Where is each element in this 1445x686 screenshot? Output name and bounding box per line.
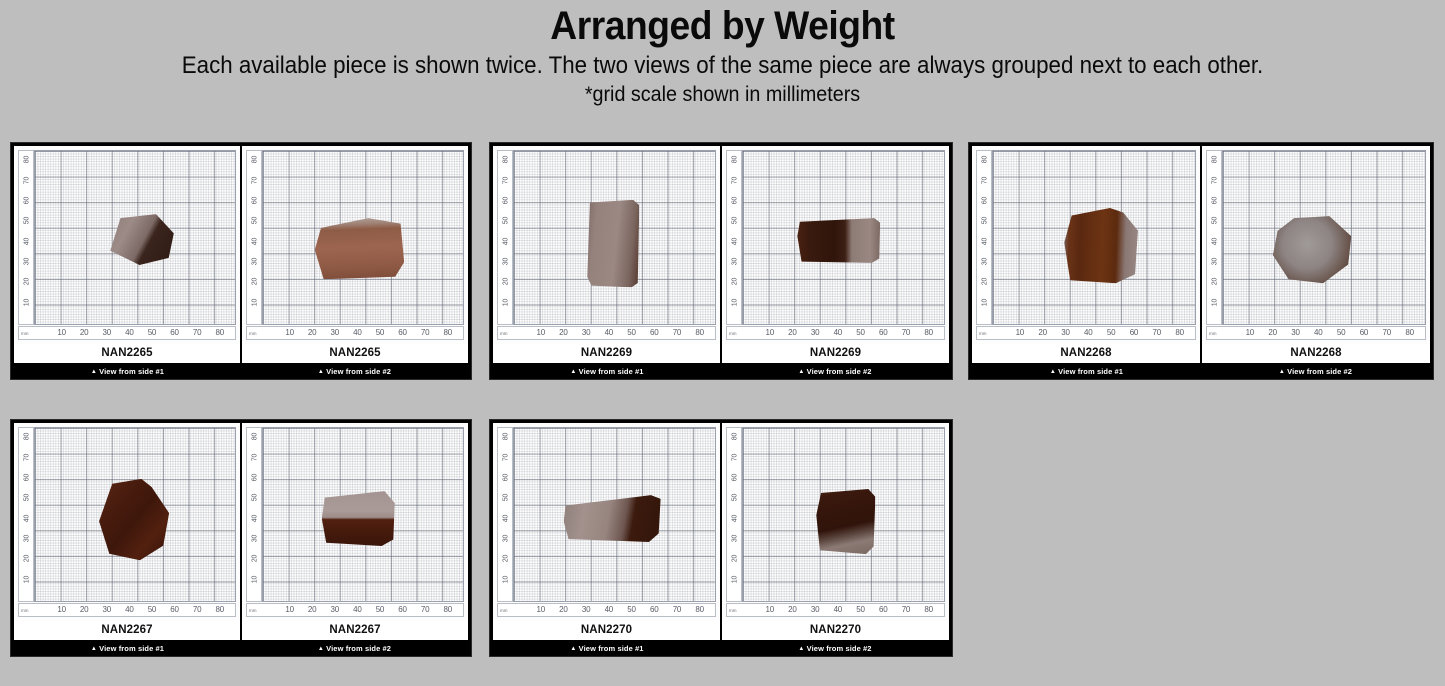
x-axis-tick-label: 30 bbox=[99, 328, 115, 337]
caption-bar: ▲ View from side #1▲ View from side #2 bbox=[493, 640, 949, 656]
specimen-id-label: NAN2269 bbox=[493, 344, 720, 363]
x-axis-tick-label: 70 bbox=[417, 605, 433, 614]
x-axis-tick-label: 60 bbox=[646, 328, 662, 337]
specimen-view-panel[interactable]: 8070605040302010mm1020304050607080NAN226… bbox=[493, 146, 720, 363]
millimeter-grid bbox=[742, 427, 945, 602]
x-axis-tick-label: 80 bbox=[921, 328, 937, 337]
y-axis-tick-label: 60 bbox=[732, 192, 739, 208]
x-axis-ruler: mm1020304050607080 bbox=[246, 603, 464, 617]
graph-paper-plot: 8070605040302010mm1020304050607080 bbox=[1202, 146, 1430, 344]
graph-paper-plot: 8070605040302010mm1020304050607080 bbox=[493, 423, 720, 621]
x-axis-tick-label: 80 bbox=[1172, 328, 1188, 337]
x-axis-tick-label: 30 bbox=[99, 605, 115, 614]
y-axis-tick-label: 50 bbox=[982, 213, 989, 229]
y-axis-tick-label: 40 bbox=[982, 233, 989, 249]
triangle-up-icon: ▲ bbox=[1050, 369, 1056, 375]
y-axis-tick-label: 40 bbox=[252, 510, 259, 526]
millimeter-grid bbox=[513, 150, 716, 325]
y-axis-ruler: 8070605040302010 bbox=[246, 427, 262, 602]
x-axis-tick-label: 30 bbox=[327, 328, 343, 337]
caption-bar: ▲ View from side #1▲ View from side #2 bbox=[972, 363, 1430, 379]
y-axis-tick-label: 70 bbox=[503, 449, 510, 465]
triangle-up-icon: ▲ bbox=[91, 369, 97, 375]
x-axis-tick-label: 10 bbox=[533, 328, 549, 337]
specimen-view-panel[interactable]: 8070605040302010mm1020304050607080NAN226… bbox=[14, 423, 240, 640]
specimen-view-panel[interactable]: 8070605040302010mm1020304050607080NAN226… bbox=[14, 146, 240, 363]
specimen-view-panel[interactable]: 8070605040302010mm1020304050607080NAN227… bbox=[722, 423, 949, 640]
x-axis-tick-label: 80 bbox=[212, 328, 228, 337]
specimen-image bbox=[797, 218, 880, 263]
x-axis-tick-label: 50 bbox=[144, 328, 160, 337]
x-axis-tick-label: 30 bbox=[578, 605, 594, 614]
view-caption: ▲ View from side #1 bbox=[493, 644, 721, 653]
x-axis-tick-label: 10 bbox=[282, 605, 298, 614]
y-axis-tick-label: 70 bbox=[982, 172, 989, 188]
x-axis-tick-label: 50 bbox=[372, 328, 388, 337]
millimeter-grid bbox=[34, 427, 236, 602]
x-axis-tick-label: 70 bbox=[898, 605, 914, 614]
view-caption: ▲ View from side #2 bbox=[1201, 367, 1430, 376]
specimen-image bbox=[322, 491, 395, 546]
millimeter-grid bbox=[262, 427, 464, 602]
x-axis-tick-label: 60 bbox=[1356, 328, 1372, 337]
millimeter-grid bbox=[1222, 150, 1426, 325]
x-axis-tick-label: 20 bbox=[1265, 328, 1281, 337]
y-axis-tick-label: 20 bbox=[1212, 274, 1219, 290]
y-axis-tick-label: 10 bbox=[24, 294, 31, 310]
x-axis-tick-label: 20 bbox=[76, 605, 92, 614]
y-axis-tick-label: 60 bbox=[1212, 192, 1219, 208]
x-axis-tick-label: 30 bbox=[578, 328, 594, 337]
specimen-id-label: NAN2267 bbox=[242, 621, 468, 640]
y-axis-tick-label: 80 bbox=[732, 152, 739, 168]
specimen-id-label: NAN2270 bbox=[493, 621, 720, 640]
y-axis-ruler: 8070605040302010 bbox=[976, 150, 992, 325]
x-axis-tick-label: 60 bbox=[646, 605, 662, 614]
y-axis-tick-label: 50 bbox=[503, 490, 510, 506]
specimen-image bbox=[816, 489, 875, 554]
x-axis-tick-label: 20 bbox=[555, 328, 571, 337]
specimen-view-panel[interactable]: 8070605040302010mm1020304050607080NAN226… bbox=[242, 146, 468, 363]
specimen-id-label: NAN2270 bbox=[722, 621, 949, 640]
specimen-view-pair: 8070605040302010mm1020304050607080NAN226… bbox=[972, 146, 1430, 363]
specimen-card[interactable]: 8070605040302010mm1020304050607080NAN226… bbox=[10, 419, 472, 657]
specimen-view-pair: 8070605040302010mm1020304050607080NAN227… bbox=[493, 423, 949, 640]
specimen-id-label: NAN2269 bbox=[722, 344, 949, 363]
x-axis-tick-label: 60 bbox=[875, 605, 891, 614]
y-axis-tick-label: 70 bbox=[24, 172, 31, 188]
specimen-view-pair: 8070605040302010mm1020304050607080NAN226… bbox=[14, 146, 468, 363]
x-axis-ruler: mm1020304050607080 bbox=[1206, 326, 1426, 340]
specimen-id-label: NAN2268 bbox=[972, 344, 1200, 363]
x-axis-ruler: mm1020304050607080 bbox=[497, 603, 716, 617]
page-title: Arranged by Weight bbox=[51, 4, 1395, 49]
axis-unit-label: mm bbox=[21, 608, 29, 613]
y-axis-ruler: 8070605040302010 bbox=[726, 427, 742, 602]
y-axis-tick-label: 40 bbox=[1212, 233, 1219, 249]
specimen-view-pair: 8070605040302010mm1020304050607080NAN226… bbox=[493, 146, 949, 363]
x-axis-tick-label: 50 bbox=[144, 605, 160, 614]
y-axis-tick-label: 50 bbox=[24, 213, 31, 229]
y-axis-tick-label: 80 bbox=[1212, 152, 1219, 168]
view-caption: ▲ View from side #2 bbox=[241, 644, 468, 653]
axis-unit-label: mm bbox=[729, 608, 737, 613]
x-axis-tick-label: 40 bbox=[830, 328, 846, 337]
y-axis-ruler: 8070605040302010 bbox=[497, 150, 513, 325]
x-axis-tick-label: 40 bbox=[601, 605, 617, 614]
specimen-view-pair: 8070605040302010mm1020304050607080NAN226… bbox=[14, 423, 468, 640]
x-axis-tick-label: 50 bbox=[624, 328, 640, 337]
axis-unit-label: mm bbox=[249, 608, 257, 613]
specimen-image bbox=[96, 479, 169, 560]
x-axis-tick-label: 10 bbox=[54, 328, 70, 337]
millimeter-grid bbox=[34, 150, 236, 325]
view-caption: ▲ View from side #1 bbox=[972, 367, 1201, 376]
x-axis-tick-label: 10 bbox=[1242, 328, 1258, 337]
y-axis-tick-label: 70 bbox=[252, 172, 259, 188]
triangle-up-icon: ▲ bbox=[570, 369, 576, 375]
x-axis-tick-label: 30 bbox=[1057, 328, 1073, 337]
x-axis-tick-label: 80 bbox=[1402, 328, 1418, 337]
x-axis-tick-label: 40 bbox=[1310, 328, 1326, 337]
specimen-view-panel[interactable]: 8070605040302010mm1020304050607080NAN226… bbox=[1202, 146, 1430, 363]
x-axis-tick-label: 20 bbox=[1035, 328, 1051, 337]
x-axis-tick-label: 40 bbox=[349, 605, 365, 614]
x-axis-tick-label: 60 bbox=[167, 605, 183, 614]
specimen-card[interactable]: 8070605040302010mm1020304050607080NAN226… bbox=[489, 142, 953, 380]
specimen-view-panel[interactable]: 8070605040302010mm1020304050607080NAN226… bbox=[972, 146, 1200, 363]
x-axis-tick-label: 70 bbox=[669, 328, 685, 337]
triangle-up-icon: ▲ bbox=[798, 646, 804, 652]
triangle-up-icon: ▲ bbox=[570, 646, 576, 652]
millimeter-grid bbox=[742, 150, 945, 325]
y-axis-tick-label: 80 bbox=[252, 429, 259, 445]
axis-unit-label: mm bbox=[21, 331, 29, 336]
x-axis-ruler: mm1020304050607080 bbox=[246, 326, 464, 340]
x-axis-ruler: mm1020304050607080 bbox=[726, 326, 945, 340]
x-axis-tick-label: 80 bbox=[440, 328, 456, 337]
specimen-view-panel[interactable]: 8070605040302010mm1020304050607080NAN227… bbox=[493, 423, 720, 640]
millimeter-grid bbox=[262, 150, 464, 325]
graph-paper-plot: 8070605040302010mm1020304050607080 bbox=[14, 146, 240, 344]
y-axis-tick-label: 70 bbox=[732, 449, 739, 465]
y-axis-tick-label: 30 bbox=[252, 253, 259, 269]
x-axis-tick-label: 50 bbox=[372, 605, 388, 614]
y-axis-tick-label: 80 bbox=[24, 152, 31, 168]
graph-paper-plot: 8070605040302010mm1020304050607080 bbox=[972, 146, 1200, 344]
y-axis-tick-label: 60 bbox=[24, 469, 31, 485]
x-axis-tick-label: 60 bbox=[395, 328, 411, 337]
graph-paper-plot: 8070605040302010mm1020304050607080 bbox=[493, 146, 720, 344]
y-axis-tick-label: 10 bbox=[252, 571, 259, 587]
y-axis-tick-label: 30 bbox=[732, 253, 739, 269]
y-axis-tick-label: 50 bbox=[1212, 213, 1219, 229]
axis-unit-label: mm bbox=[500, 331, 508, 336]
y-axis-ruler: 8070605040302010 bbox=[497, 427, 513, 602]
page-header: Arranged by Weight Each available piece … bbox=[0, 0, 1445, 107]
x-axis-tick-label: 30 bbox=[327, 605, 343, 614]
x-axis-tick-label: 20 bbox=[784, 605, 800, 614]
view-caption: ▲ View from side #1 bbox=[493, 367, 721, 376]
view-caption: ▲ View from side #2 bbox=[721, 367, 949, 376]
caption-bar: ▲ View from side #1▲ View from side #2 bbox=[14, 640, 468, 656]
y-axis-tick-label: 60 bbox=[503, 469, 510, 485]
graph-paper-plot: 8070605040302010mm1020304050607080 bbox=[242, 423, 468, 621]
x-axis-tick-label: 10 bbox=[54, 605, 70, 614]
y-axis-tick-label: 80 bbox=[252, 152, 259, 168]
y-axis-tick-label: 40 bbox=[732, 510, 739, 526]
x-axis-tick-label: 10 bbox=[533, 605, 549, 614]
y-axis-tick-label: 70 bbox=[732, 172, 739, 188]
specimen-image bbox=[110, 214, 174, 265]
y-axis-tick-label: 30 bbox=[252, 530, 259, 546]
y-axis-tick-label: 70 bbox=[252, 449, 259, 465]
x-axis-tick-label: 60 bbox=[167, 328, 183, 337]
triangle-up-icon: ▲ bbox=[91, 646, 97, 652]
view-caption: ▲ View from side #2 bbox=[241, 367, 468, 376]
page-subtitle-primary: Each available piece is shown twice. The… bbox=[51, 51, 1395, 81]
specimen-image bbox=[1273, 216, 1351, 283]
y-axis-ruler: 8070605040302010 bbox=[18, 150, 34, 325]
y-axis-tick-label: 20 bbox=[24, 274, 31, 290]
view-caption: ▲ View from side #2 bbox=[721, 644, 949, 653]
millimeter-grid bbox=[513, 427, 716, 602]
specimen-card[interactable]: 8070605040302010mm1020304050607080NAN227… bbox=[489, 419, 953, 657]
x-axis-tick-label: 70 bbox=[1149, 328, 1165, 337]
y-axis-ruler: 8070605040302010 bbox=[726, 150, 742, 325]
x-axis-tick-label: 70 bbox=[189, 328, 205, 337]
y-axis-tick-label: 10 bbox=[503, 294, 510, 310]
x-axis-ruler: mm1020304050607080 bbox=[497, 326, 716, 340]
y-axis-tick-label: 50 bbox=[252, 490, 259, 506]
y-axis-tick-label: 60 bbox=[503, 192, 510, 208]
specimen-card[interactable]: 8070605040302010mm1020304050607080NAN226… bbox=[968, 142, 1434, 380]
x-axis-tick-label: 80 bbox=[212, 605, 228, 614]
x-axis-tick-label: 10 bbox=[1012, 328, 1028, 337]
specimen-image bbox=[1064, 208, 1138, 283]
y-axis-tick-label: 70 bbox=[503, 172, 510, 188]
triangle-up-icon: ▲ bbox=[318, 646, 324, 652]
y-axis-tick-label: 40 bbox=[24, 510, 31, 526]
x-axis-tick-label: 80 bbox=[440, 605, 456, 614]
y-axis-tick-label: 10 bbox=[732, 294, 739, 310]
y-axis-tick-label: 60 bbox=[252, 469, 259, 485]
y-axis-tick-label: 80 bbox=[982, 152, 989, 168]
y-axis-tick-label: 60 bbox=[732, 469, 739, 485]
graph-paper-plot: 8070605040302010mm1020304050607080 bbox=[722, 146, 949, 344]
x-axis-tick-label: 80 bbox=[921, 605, 937, 614]
y-axis-tick-label: 30 bbox=[503, 253, 510, 269]
x-axis-tick-label: 70 bbox=[898, 328, 914, 337]
y-axis-tick-label: 20 bbox=[732, 551, 739, 567]
y-axis-tick-label: 50 bbox=[252, 213, 259, 229]
y-axis-tick-label: 80 bbox=[24, 429, 31, 445]
specimen-card[interactable]: 8070605040302010mm1020304050607080NAN226… bbox=[10, 142, 472, 380]
y-axis-tick-label: 30 bbox=[24, 530, 31, 546]
specimen-id-label: NAN2265 bbox=[242, 344, 468, 363]
y-axis-tick-label: 10 bbox=[982, 294, 989, 310]
graph-paper-plot: 8070605040302010mm1020304050607080 bbox=[14, 423, 240, 621]
x-axis-ruler: mm1020304050607080 bbox=[18, 603, 236, 617]
x-axis-tick-label: 50 bbox=[853, 328, 869, 337]
x-axis-tick-label: 70 bbox=[189, 605, 205, 614]
y-axis-ruler: 8070605040302010 bbox=[18, 427, 34, 602]
x-axis-tick-label: 80 bbox=[692, 605, 708, 614]
y-axis-tick-label: 40 bbox=[503, 233, 510, 249]
y-axis-tick-label: 40 bbox=[252, 233, 259, 249]
graph-paper-plot: 8070605040302010mm1020304050607080 bbox=[242, 146, 468, 344]
x-axis-tick-label: 70 bbox=[1379, 328, 1395, 337]
x-axis-tick-label: 40 bbox=[121, 328, 137, 337]
x-axis-tick-label: 20 bbox=[784, 328, 800, 337]
specimen-image bbox=[315, 218, 404, 279]
page-subtitle-secondary: *grid scale shown in millimeters bbox=[43, 82, 1401, 107]
x-axis-tick-label: 30 bbox=[807, 605, 823, 614]
x-axis-tick-label: 50 bbox=[1103, 328, 1119, 337]
view-caption: ▲ View from side #1 bbox=[14, 367, 241, 376]
y-axis-tick-label: 60 bbox=[982, 192, 989, 208]
y-axis-tick-label: 40 bbox=[24, 233, 31, 249]
y-axis-tick-label: 20 bbox=[503, 551, 510, 567]
specimen-id-label: NAN2265 bbox=[14, 344, 240, 363]
caption-bar: ▲ View from side #1▲ View from side #2 bbox=[14, 363, 468, 379]
x-axis-tick-label: 50 bbox=[1333, 328, 1349, 337]
y-axis-tick-label: 30 bbox=[732, 530, 739, 546]
x-axis-tick-label: 60 bbox=[395, 605, 411, 614]
y-axis-tick-label: 60 bbox=[24, 192, 31, 208]
y-axis-tick-label: 50 bbox=[732, 213, 739, 229]
y-axis-tick-label: 80 bbox=[503, 429, 510, 445]
x-axis-tick-label: 10 bbox=[762, 328, 778, 337]
millimeter-grid bbox=[992, 150, 1196, 325]
x-axis-ruler: mm1020304050607080 bbox=[726, 603, 945, 617]
triangle-up-icon: ▲ bbox=[1279, 369, 1285, 375]
y-axis-tick-label: 20 bbox=[503, 274, 510, 290]
y-axis-tick-label: 70 bbox=[24, 449, 31, 465]
triangle-up-icon: ▲ bbox=[318, 369, 324, 375]
x-axis-tick-label: 50 bbox=[624, 605, 640, 614]
y-axis-tick-label: 30 bbox=[24, 253, 31, 269]
axis-unit-label: mm bbox=[500, 608, 508, 613]
y-axis-tick-label: 80 bbox=[732, 429, 739, 445]
x-axis-tick-label: 40 bbox=[349, 328, 365, 337]
x-axis-ruler: mm1020304050607080 bbox=[18, 326, 236, 340]
x-axis-tick-label: 20 bbox=[304, 605, 320, 614]
y-axis-ruler: 8070605040302010 bbox=[1206, 150, 1222, 325]
y-axis-tick-label: 40 bbox=[732, 233, 739, 249]
x-axis-tick-label: 60 bbox=[1126, 328, 1142, 337]
x-axis-tick-label: 20 bbox=[76, 328, 92, 337]
x-axis-tick-label: 80 bbox=[692, 328, 708, 337]
specimen-image bbox=[587, 200, 639, 288]
x-axis-tick-label: 40 bbox=[121, 605, 137, 614]
x-axis-tick-label: 60 bbox=[875, 328, 891, 337]
caption-bar: ▲ View from side #1▲ View from side #2 bbox=[493, 363, 949, 379]
y-axis-tick-label: 10 bbox=[1212, 294, 1219, 310]
y-axis-tick-label: 50 bbox=[732, 490, 739, 506]
y-axis-tick-label: 50 bbox=[24, 490, 31, 506]
y-axis-ruler: 8070605040302010 bbox=[246, 150, 262, 325]
y-axis-tick-label: 60 bbox=[252, 192, 259, 208]
y-axis-tick-label: 20 bbox=[982, 274, 989, 290]
specimen-view-panel[interactable]: 8070605040302010mm1020304050607080NAN226… bbox=[722, 146, 949, 363]
y-axis-tick-label: 20 bbox=[24, 551, 31, 567]
y-axis-tick-label: 70 bbox=[1212, 172, 1219, 188]
y-axis-tick-label: 20 bbox=[252, 274, 259, 290]
specimen-view-panel[interactable]: 8070605040302010mm1020304050607080NAN226… bbox=[242, 423, 468, 640]
y-axis-tick-label: 20 bbox=[732, 274, 739, 290]
x-axis-tick-label: 40 bbox=[601, 328, 617, 337]
view-caption: ▲ View from side #1 bbox=[14, 644, 241, 653]
x-axis-tick-label: 70 bbox=[669, 605, 685, 614]
x-axis-tick-label: 50 bbox=[853, 605, 869, 614]
y-axis-tick-label: 30 bbox=[1212, 253, 1219, 269]
x-axis-tick-label: 10 bbox=[282, 328, 298, 337]
y-axis-tick-label: 10 bbox=[24, 571, 31, 587]
y-axis-tick-label: 30 bbox=[982, 253, 989, 269]
y-axis-tick-label: 10 bbox=[503, 571, 510, 587]
x-axis-tick-label: 10 bbox=[762, 605, 778, 614]
y-axis-tick-label: 30 bbox=[503, 530, 510, 546]
axis-unit-label: mm bbox=[979, 331, 987, 336]
y-axis-tick-label: 10 bbox=[732, 571, 739, 587]
specimen-id-label: NAN2267 bbox=[14, 621, 240, 640]
x-axis-tick-label: 20 bbox=[555, 605, 571, 614]
specimen-image bbox=[564, 495, 661, 542]
specimen-id-label: NAN2268 bbox=[1202, 344, 1430, 363]
y-axis-tick-label: 40 bbox=[503, 510, 510, 526]
x-axis-tick-label: 40 bbox=[830, 605, 846, 614]
y-axis-tick-label: 10 bbox=[252, 294, 259, 310]
axis-unit-label: mm bbox=[1209, 331, 1217, 336]
x-axis-tick-label: 40 bbox=[1080, 328, 1096, 337]
y-axis-tick-label: 50 bbox=[503, 213, 510, 229]
triangle-up-icon: ▲ bbox=[798, 369, 804, 375]
x-axis-tick-label: 30 bbox=[1287, 328, 1303, 337]
axis-unit-label: mm bbox=[249, 331, 257, 336]
x-axis-tick-label: 20 bbox=[304, 328, 320, 337]
x-axis-tick-label: 70 bbox=[417, 328, 433, 337]
x-axis-tick-label: 30 bbox=[807, 328, 823, 337]
y-axis-tick-label: 80 bbox=[503, 152, 510, 168]
y-axis-tick-label: 20 bbox=[252, 551, 259, 567]
graph-paper-plot: 8070605040302010mm1020304050607080 bbox=[722, 423, 949, 621]
x-axis-ruler: mm1020304050607080 bbox=[976, 326, 1196, 340]
axis-unit-label: mm bbox=[729, 331, 737, 336]
